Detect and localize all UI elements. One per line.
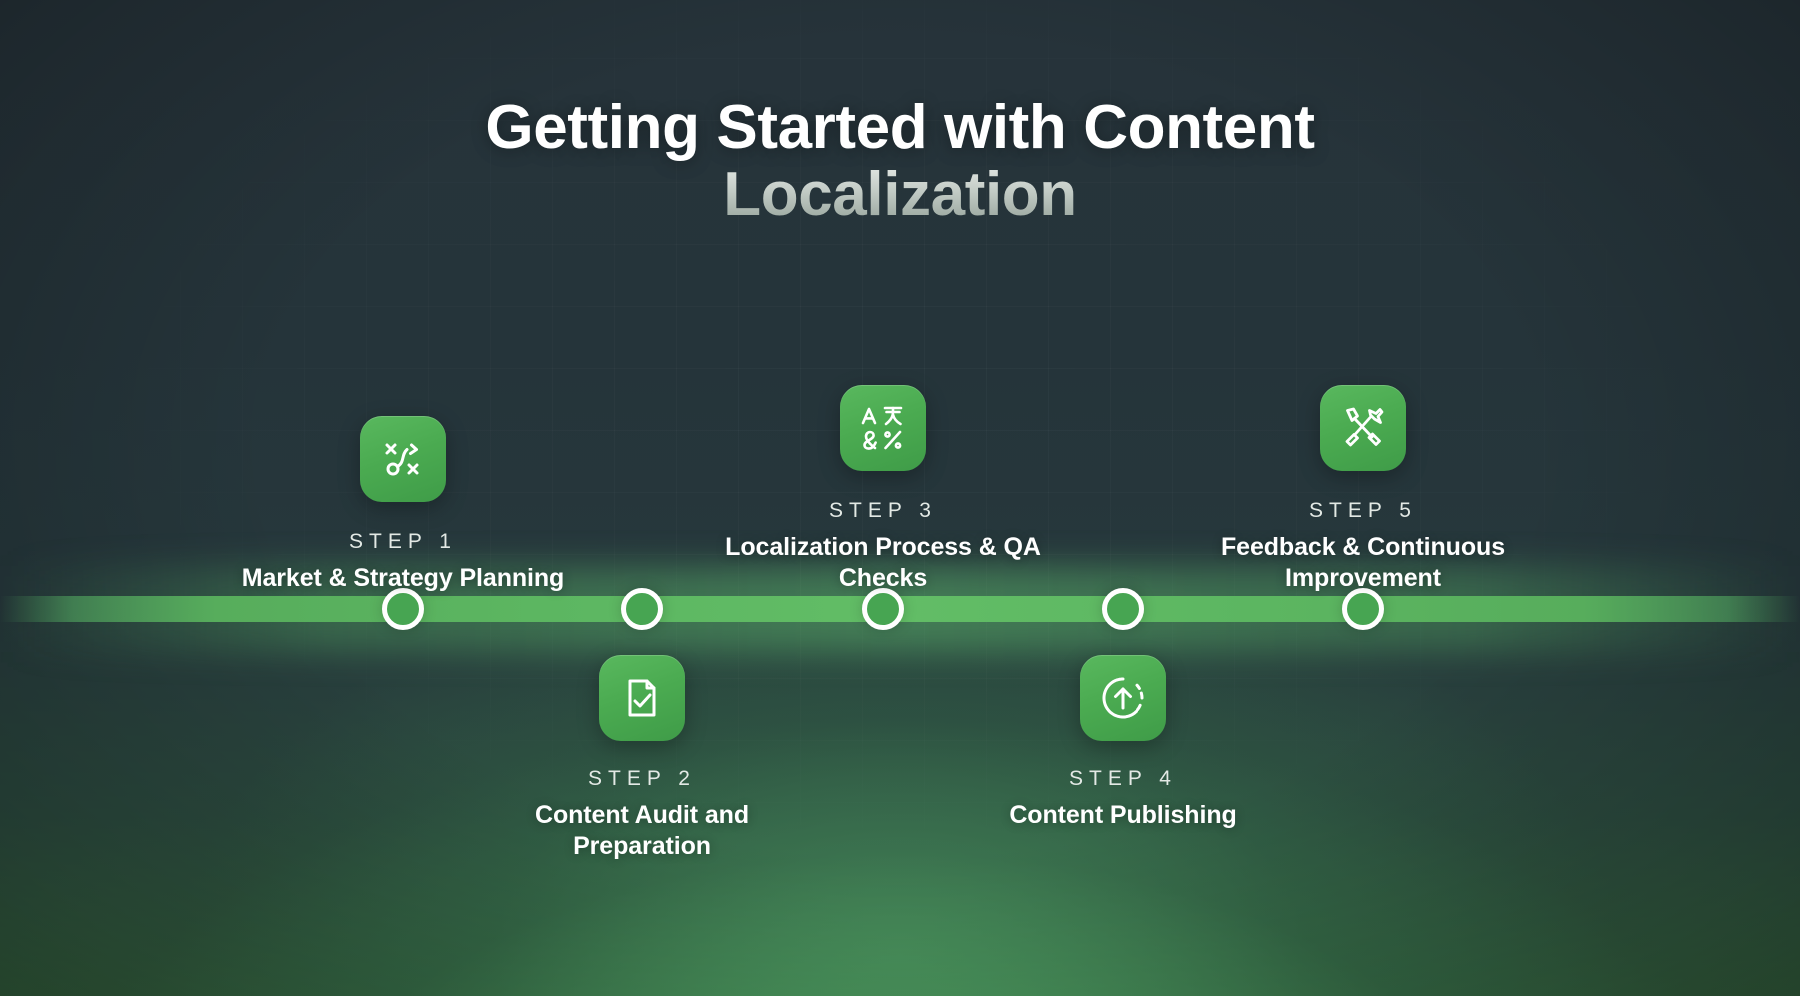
translate-icon: [858, 403, 908, 453]
step-4[interactable]: STEP 4 Content Publishing: [958, 655, 1288, 831]
step-2[interactable]: STEP 2 Content Audit and Preparation: [477, 655, 807, 862]
step-1-title: Market & Strategy Planning: [238, 563, 568, 594]
step-5-icon-tile: [1320, 385, 1406, 471]
document-check-icon: [619, 675, 665, 721]
step-1-eyebrow: STEP 1: [238, 530, 568, 554]
step-2-eyebrow: STEP 2: [477, 767, 807, 791]
timeline-marker-3[interactable]: [862, 588, 904, 630]
infographic-canvas: Getting Started with Content Localizatio…: [0, 0, 1800, 996]
tools-hammer-screwdriver-icon: [1339, 404, 1387, 452]
step-3-title: Localization Process & QA Checks: [718, 532, 1048, 594]
step-3-eyebrow: STEP 3: [718, 499, 1048, 523]
step-2-icon-tile: [599, 655, 685, 741]
strategy-playbook-icon: [379, 435, 427, 483]
title-line-2: Localization: [0, 160, 1800, 229]
step-3-icon-tile: [840, 385, 926, 471]
step-4-icon-tile: [1080, 655, 1166, 741]
step-3[interactable]: STEP 3 Localization Process & QA Checks: [718, 385, 1048, 594]
timeline-marker-5[interactable]: [1342, 588, 1384, 630]
step-4-title: Content Publishing: [958, 800, 1288, 831]
timeline-marker-2[interactable]: [621, 588, 663, 630]
step-5[interactable]: STEP 5 Feedback & Continuous Improvement: [1198, 385, 1528, 594]
timeline-marker-1[interactable]: [382, 588, 424, 630]
timeline-marker-4[interactable]: [1102, 588, 1144, 630]
step-2-title: Content Audit and Preparation: [477, 800, 807, 862]
title-line-1: Getting Started with Content: [0, 95, 1800, 160]
publish-upload-icon: [1099, 674, 1147, 722]
step-4-eyebrow: STEP 4: [958, 767, 1288, 791]
page-title: Getting Started with Content Localizatio…: [0, 95, 1800, 230]
step-1-icon-tile: [360, 416, 446, 502]
step-5-title: Feedback & Continuous Improvement: [1198, 532, 1528, 594]
step-5-eyebrow: STEP 5: [1198, 499, 1528, 523]
step-1[interactable]: STEP 1 Market & Strategy Planning: [238, 416, 568, 594]
